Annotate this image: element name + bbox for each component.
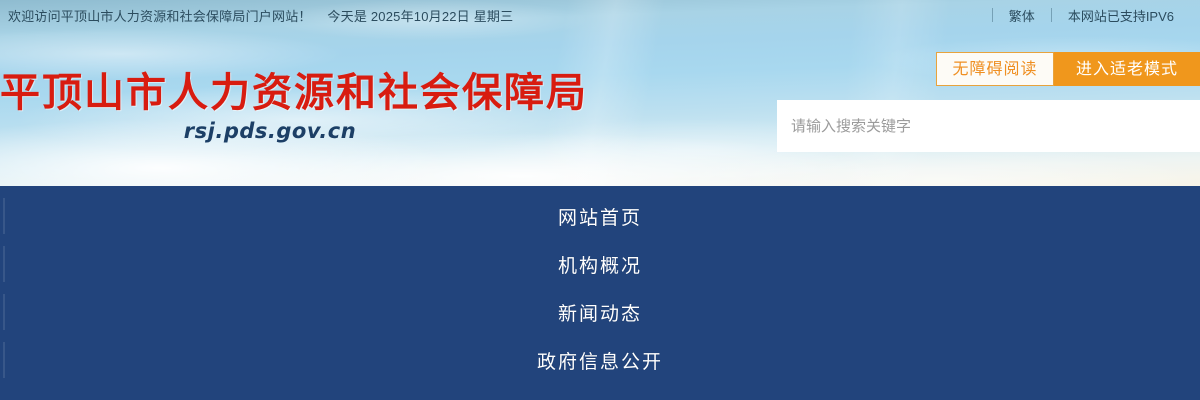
nav-item-label: 网站首页 <box>558 203 642 230</box>
main-navigation: 网站首页 机构概况 新闻动态 政府信息公开 <box>0 186 1200 400</box>
accessibility-button-group: 无障碍阅读 进入适老模式 <box>936 52 1200 86</box>
top-utility-links: 繁体 本网站已支持IPV6 <box>992 0 1200 30</box>
nav-item-label: 机构概况 <box>558 251 642 278</box>
welcome-text-group: 欢迎访问平顶山市人力资源和社会保障局门户网站！ 今天是 2025年10月22日 … <box>8 6 513 25</box>
search-box <box>777 100 1200 152</box>
top-utility-bar: 欢迎访问平顶山市人力资源和社会保障局门户网站！ 今天是 2025年10月22日 … <box>0 0 1200 30</box>
nav-item-label: 新闻动态 <box>558 299 642 326</box>
site-brand[interactable]: 平顶山市人力资源和社会保障局 rsj.pds.gov.cn <box>0 72 540 143</box>
nav-item-label: 政府信息公开 <box>537 347 663 374</box>
nav-item-home[interactable]: 网站首页 <box>0 192 1200 240</box>
site-domain: rsj.pds.gov.cn <box>0 119 540 143</box>
traditional-chinese-link[interactable]: 繁体 <box>993 6 1051 25</box>
accessible-reading-button[interactable]: 无障碍阅读 <box>936 52 1054 86</box>
nav-item-disclosure[interactable]: 政府信息公开 <box>0 336 1200 384</box>
nav-item-overview[interactable]: 机构概况 <box>0 240 1200 288</box>
site-header: 欢迎访问平顶山市人力资源和社会保障局门户网站！ 今天是 2025年10月22日 … <box>0 0 1200 186</box>
ipv6-support-link[interactable]: 本网站已支持IPV6 <box>1052 6 1190 25</box>
search-input[interactable] <box>777 100 1200 152</box>
elderly-mode-button[interactable]: 进入适老模式 <box>1054 52 1200 86</box>
welcome-message: 欢迎访问平顶山市人力资源和社会保障局门户网站！ <box>8 9 312 24</box>
site-title: 平顶山市人力资源和社会保障局 <box>0 72 540 115</box>
page-root: 欢迎访问平顶山市人力资源和社会保障局门户网站！ 今天是 2025年10月22日 … <box>0 0 1200 400</box>
today-label: 今天是 <box>327 9 367 24</box>
today-date: 2025年10月22日 星期三 <box>371 9 513 24</box>
nav-item-news[interactable]: 新闻动态 <box>0 288 1200 336</box>
